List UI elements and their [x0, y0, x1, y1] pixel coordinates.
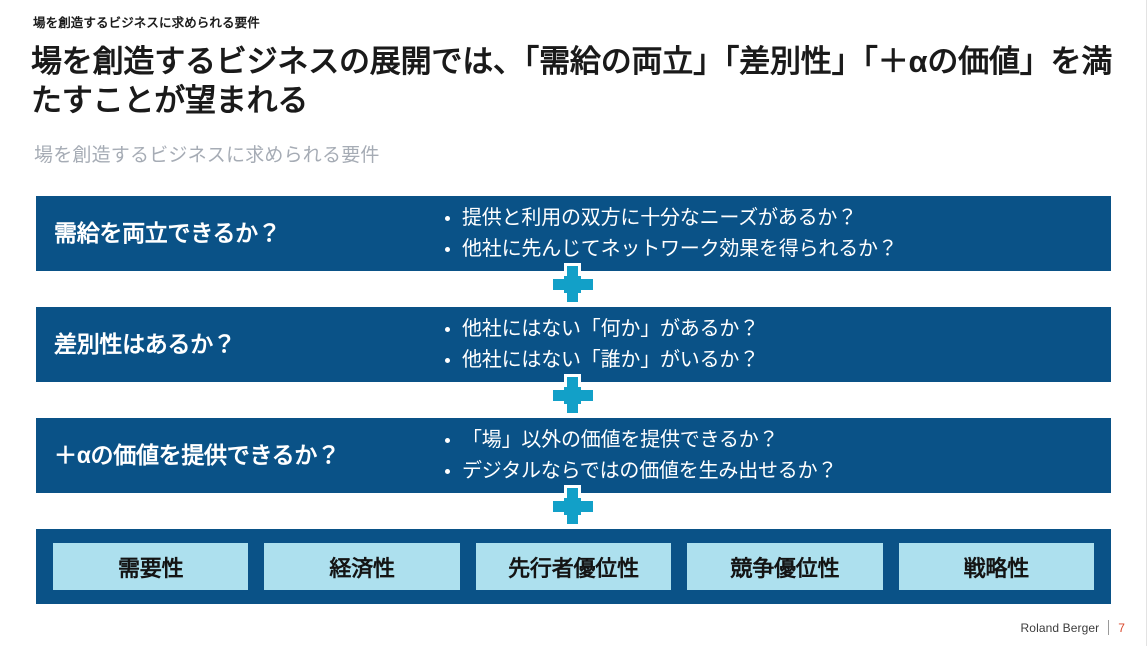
requirement-row-2-points: 他社にはない「何か」があるか？ 他社にはない「誰か」がいるか？ [440, 314, 1111, 376]
outcome-pill-first-mover[interactable]: 先行者優位性 [476, 543, 671, 590]
list-item: 他社にはない「誰か」がいるか？ [440, 345, 1097, 376]
outcome-pill-strategy[interactable]: 戦略性 [899, 543, 1094, 590]
outcome-pill-demand[interactable]: 需要性 [53, 543, 248, 590]
slide-footer: Roland Berger 7 [1021, 620, 1125, 635]
requirement-row-1[interactable]: 需給を両立できるか？ 提供と利用の双方に十分なニーズがあるか？ 他社に先んじてネ… [36, 196, 1111, 271]
plus-icon-center [564, 276, 581, 293]
requirement-row-1-points: 提供と利用の双方に十分なニーズがあるか？ 他社に先んじてネットワーク効果を得られ… [440, 203, 1111, 265]
list-item: デジタルならではの価値を生み出せるか？ [440, 456, 1097, 487]
list-item: 他社にはない「何か」があるか？ [440, 314, 1097, 345]
requirement-row-2[interactable]: 差別性はあるか？ 他社にはない「何か」があるか？ 他社にはない「誰か」がいるか？ [36, 307, 1111, 382]
outcome-pill-label: 戦略性 [964, 551, 1029, 583]
requirement-row-2-label: 差別性はあるか？ [36, 331, 440, 359]
outcome-pill-label: 経済性 [329, 551, 394, 583]
plus-icon [550, 485, 596, 527]
outcome-pill-competitive[interactable]: 競争優位性 [687, 543, 882, 590]
requirement-row-3-label: ＋αの価値を提供できるか？ [36, 442, 440, 470]
requirement-row-1-label: 需給を両立できるか？ [36, 220, 440, 248]
requirement-row-3-points: 「場」以外の価値を提供できるか？ デジタルならではの価値を生み出せるか？ [440, 425, 1111, 487]
outcome-row: 需要性 経済性 先行者優位性 競争優位性 戦略性 [36, 529, 1111, 604]
footer-divider [1108, 620, 1109, 635]
list-item: 提供と利用の双方に十分なニーズがあるか？ [440, 203, 1097, 234]
plus-icon-center [564, 387, 581, 404]
slide: 場を創造するビジネスに求められる要件 場を創造するビジネスの展開では、「需給の両… [0, 0, 1147, 646]
outcome-pill-label: 需要性 [118, 551, 183, 583]
page-number: 7 [1118, 621, 1125, 635]
plus-icon [550, 263, 596, 305]
requirement-row-3[interactable]: ＋αの価値を提供できるか？ 「場」以外の価値を提供できるか？ デジタルならではの… [36, 418, 1111, 493]
slide-kicker: 場を創造するビジネスに求められる要件 [33, 12, 260, 31]
list-item: 「場」以外の価値を提供できるか？ [440, 425, 1097, 456]
brand-label: Roland Berger [1021, 621, 1100, 635]
plus-icon [550, 374, 596, 416]
plus-icon-center [564, 498, 581, 515]
requirements-diagram: 需給を両立できるか？ 提供と利用の双方に十分なニーズがあるか？ 他社に先んじてネ… [36, 196, 1111, 604]
outcome-pill-label: 先行者優位性 [508, 551, 639, 583]
page-title: 場を創造するビジネスの展開では、「需給の両立」「差別性」「＋αの価値」を満たすこ… [31, 42, 1121, 121]
outcome-pill-economics[interactable]: 経済性 [264, 543, 459, 590]
outcome-pill-label: 競争優位性 [730, 551, 839, 583]
slide-subhead: 場を創造するビジネスに求められる要件 [34, 140, 380, 167]
list-item: 他社に先んじてネットワーク効果を得られるか？ [440, 234, 1097, 265]
